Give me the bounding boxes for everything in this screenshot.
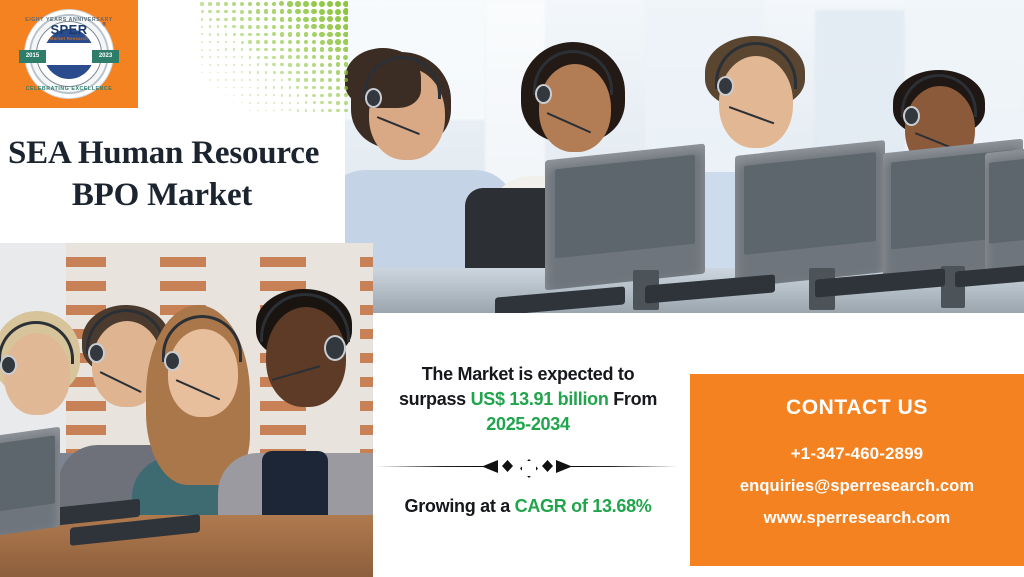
badge-year-start-text: 2015 — [19, 50, 46, 63]
cagr-line: Growing at a CAGR of 13.68% — [378, 494, 678, 519]
halftone-dots-decoration — [198, 0, 348, 112]
sper-logo-tile: EIGHT YEARS ANNIVERSARY SPER Market Rese… — [0, 0, 138, 108]
page-title: SEA Human Resource BPO Market — [8, 132, 344, 216]
badge-arc-bottom-text: CELEBRATING EXCELLENCE — [25, 86, 113, 92]
contact-heading: CONTACT US — [690, 374, 1024, 420]
contact-email[interactable]: enquiries@sperresearch.com — [690, 477, 1024, 496]
badge-tagline: Market Research — [25, 36, 113, 41]
stat-line-2: surpass US$ 13.91 billion From — [378, 387, 678, 412]
stat-line-2-suffix: From — [609, 389, 658, 409]
forecast-period: 2025-2034 — [378, 412, 678, 437]
infographic-banner: EIGHT YEARS ANNIVERSARY SPER Market Rese… — [0, 0, 1024, 577]
badge-logo-text: SPER — [25, 23, 113, 36]
contact-us-box: CONTACT US +1-347-460-2899 enquiries@spe… — [690, 374, 1024, 566]
contact-phone[interactable]: +1-347-460-2899 — [690, 444, 1024, 464]
market-stat-block: The Market is expected to surpass US$ 13… — [378, 362, 678, 437]
badge-year-start: 2015 — [19, 50, 46, 63]
cagr-value: CAGR of 13.68% — [515, 496, 652, 516]
cagr-prefix: Growing at a — [405, 496, 515, 516]
cagr-block: Growing at a CAGR of 13.68% — [378, 494, 678, 519]
badge-year-end: 2023 — [92, 50, 119, 63]
registered-mark-icon: ® — [102, 22, 106, 28]
stat-line-2-prefix: surpass — [399, 389, 471, 409]
call-center-photo-bottom — [0, 243, 373, 577]
contact-website[interactable]: www.sperresearch.com — [690, 509, 1024, 528]
market-value: US$ 13.91 billion — [471, 389, 609, 409]
stat-line-1: The Market is expected to — [378, 362, 678, 387]
anniversary-badge-icon: EIGHT YEARS ANNIVERSARY SPER Market Rese… — [25, 10, 113, 98]
call-center-photo-top — [345, 0, 1024, 313]
badge-year-end-text: 2023 — [92, 50, 119, 63]
ornamental-divider-icon — [376, 455, 678, 479]
page-title-line1: SEA Human Resource — [8, 135, 319, 171]
page-title-line2: BPO Market — [8, 174, 344, 216]
